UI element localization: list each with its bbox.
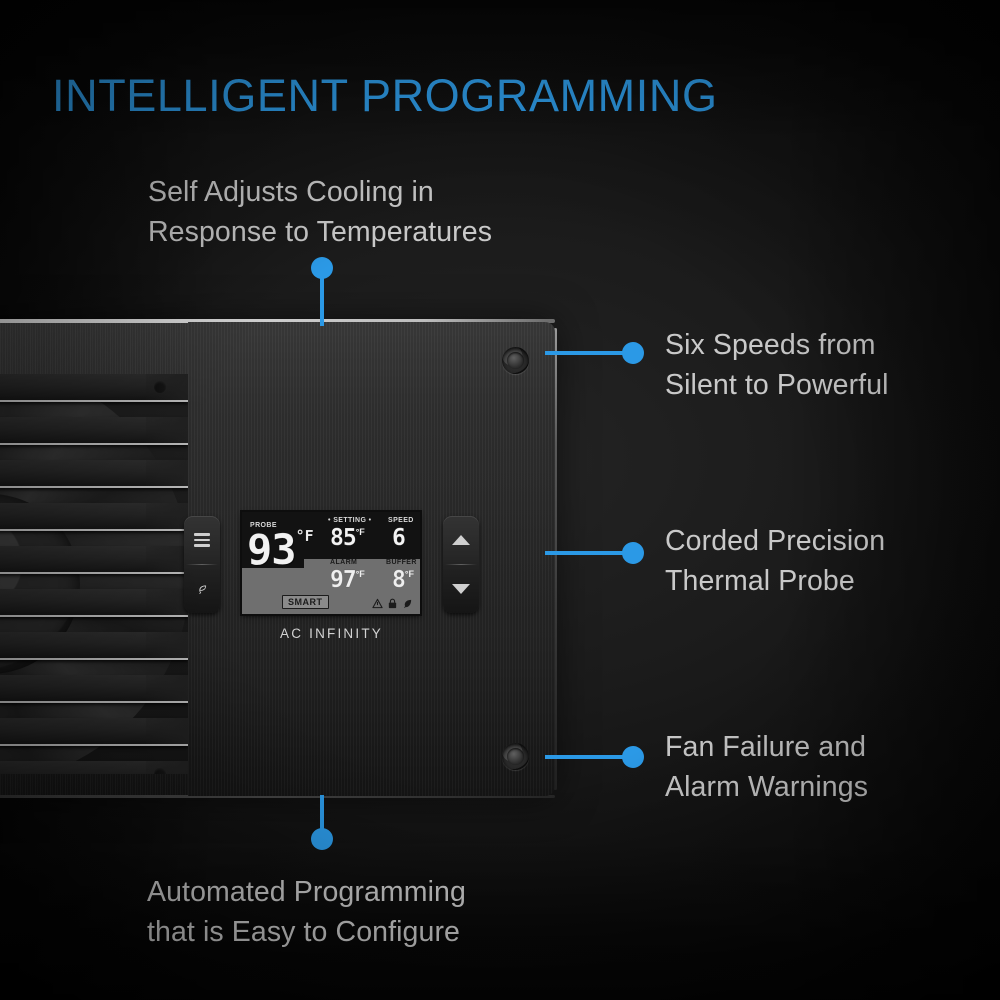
callout-six-speeds: Six Speeds from Silent to Powerful xyxy=(665,325,889,406)
connector-line xyxy=(320,268,324,326)
connector-dot xyxy=(622,542,644,564)
callout-fan-failure: Fan Failure and Alarm Warnings xyxy=(665,727,868,808)
callout-self-adjusts-cooling: Self Adjusts Cooling in Response to Temp… xyxy=(148,172,492,253)
infographic-canvas: INTELLIGENT PROGRAMMING xyxy=(0,0,1000,1000)
connector-line xyxy=(320,795,324,839)
connector-dot xyxy=(622,746,644,768)
connector-dot xyxy=(622,342,644,364)
callout-corded-probe: Corded Precision Thermal Probe xyxy=(665,521,885,602)
connector-top-left xyxy=(0,0,1000,1000)
callout-automated-programming: Automated Programming that is Easy to Co… xyxy=(147,872,466,953)
page-title: INTELLIGENT PROGRAMMING xyxy=(52,70,718,122)
